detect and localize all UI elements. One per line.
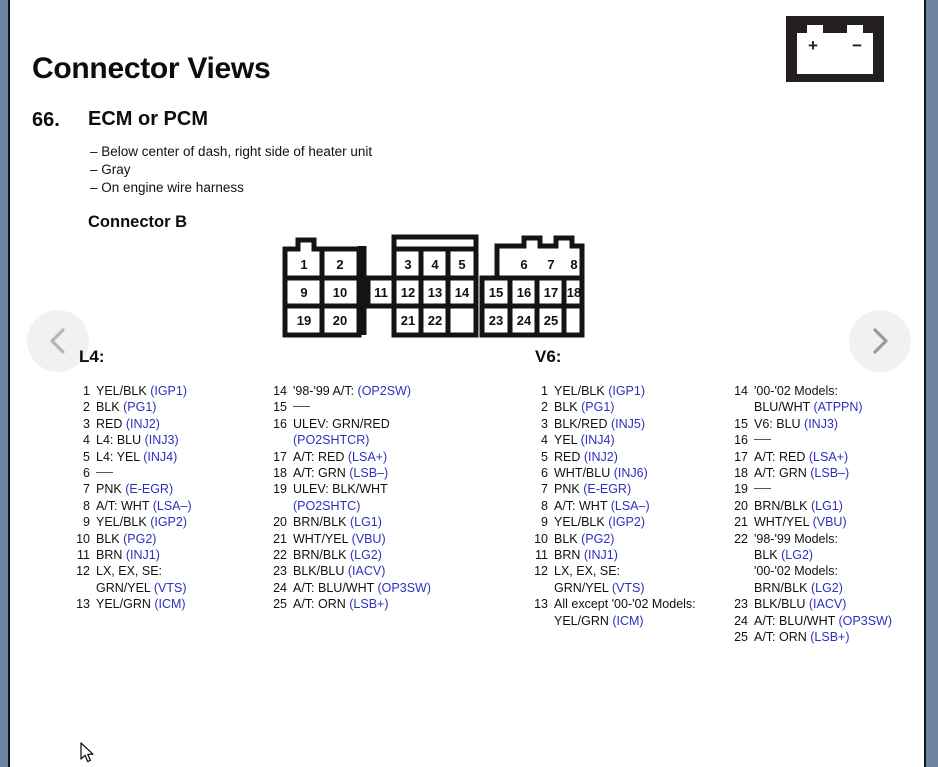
pin-description: A/T: GRN (LSB–) bbox=[293, 465, 465, 481]
pin-description-line: BRN/BLK (LG2) bbox=[754, 580, 926, 596]
pin-description: ULEV: BLK/WHT(PO2SHTC) bbox=[293, 481, 465, 514]
wire-color: BRN bbox=[554, 548, 584, 562]
pin-row: 6 bbox=[68, 465, 258, 481]
pin-description: BRN (INJ1) bbox=[554, 547, 726, 563]
pin-description-line: BLK/RED (INJ5) bbox=[554, 416, 726, 432]
pin-row: 17A/T: RED (LSA+) bbox=[726, 449, 926, 465]
pin-row: 5L4: YEL (INJ4) bbox=[68, 449, 258, 465]
wire-color: A/T: BLU/WHT bbox=[293, 581, 378, 595]
empty-pin-dash bbox=[754, 488, 771, 489]
pin-number: 18 bbox=[265, 465, 293, 481]
pin-number: 4 bbox=[68, 432, 96, 448]
pin-description: '98-'99 A/T: (OP2SW) bbox=[293, 383, 465, 399]
pin-description-line: BLK (LG2) bbox=[754, 547, 926, 563]
pin-number: 23 bbox=[726, 596, 754, 612]
signal-name: (INJ1) bbox=[584, 548, 618, 562]
signal-name: (LG1) bbox=[350, 515, 382, 529]
pin-row: 23BLK/BLU (IACV) bbox=[726, 596, 926, 612]
pin-description-line: '98-'99 A/T: (OP2SW) bbox=[293, 383, 465, 399]
pin-number: 14 bbox=[726, 383, 754, 399]
pin-number: 23 bbox=[265, 563, 293, 579]
pin-description-line: BRN/BLK (LG1) bbox=[293, 514, 465, 530]
wire-color: ULEV: GRN/RED bbox=[293, 417, 390, 431]
pin-description-line: BLK (PG2) bbox=[554, 531, 726, 547]
signal-name: (OP3SW) bbox=[839, 614, 892, 628]
pin-description: L4: BLU (INJ3) bbox=[96, 432, 258, 448]
signal-name: (PO2SHTC) bbox=[293, 499, 360, 513]
pin-row: 25A/T: ORN (LSB+) bbox=[265, 596, 465, 612]
pin-description-line: BRN (INJ1) bbox=[554, 547, 726, 563]
pin-number: 5 bbox=[526, 449, 554, 465]
pin-description-line: '00-'02 Models: bbox=[754, 383, 926, 399]
pin-description-line: BRN/BLK (LG2) bbox=[293, 547, 465, 563]
pin-description-line: GRN/YEL (VTS) bbox=[96, 580, 258, 596]
pin-number: 1 bbox=[526, 383, 554, 399]
signal-name: (LSA–) bbox=[611, 499, 650, 513]
pin-description-line: RED (INJ2) bbox=[96, 416, 258, 432]
pin-description-line bbox=[754, 481, 926, 497]
pin-row: 10BLK (PG2) bbox=[526, 531, 726, 547]
pin-description-line: L4: BLU (INJ3) bbox=[96, 432, 258, 448]
pin-cell-23: 23 bbox=[489, 313, 503, 328]
pin-description: A/T: WHT (LSA–) bbox=[96, 498, 258, 514]
signal-name: (IACV) bbox=[809, 597, 847, 611]
pin-description-line: BRN (INJ1) bbox=[96, 547, 258, 563]
pin-row: 14'00-'02 Models:BLU/WHT (ATPPN) bbox=[726, 383, 926, 416]
signal-name: (INJ2) bbox=[584, 450, 618, 464]
pin-cell-7: 7 bbox=[547, 257, 554, 272]
pin-description: A/T: WHT (LSA–) bbox=[554, 498, 726, 514]
pin-number: 5 bbox=[68, 449, 96, 465]
signal-name: (LSA–) bbox=[153, 499, 192, 513]
pin-description-line: (PO2SHTCR) bbox=[293, 432, 465, 448]
pin-cell-3: 3 bbox=[404, 257, 411, 272]
pin-cell-24: 24 bbox=[517, 313, 532, 328]
signal-name: (OP3SW) bbox=[378, 581, 431, 595]
wire-color: BRN/BLK bbox=[754, 581, 811, 595]
empty-pin-dash bbox=[96, 472, 113, 473]
next-page-button[interactable] bbox=[849, 310, 911, 372]
signal-name: (INJ4) bbox=[143, 450, 177, 464]
signal-name: (PG2) bbox=[123, 532, 156, 546]
chevron-right-icon bbox=[875, 330, 886, 352]
wire-color: BRN bbox=[96, 548, 126, 562]
pin-description-line: YEL/GRN (ICM) bbox=[96, 596, 258, 612]
pin-cell-19: 19 bbox=[297, 313, 311, 328]
pin-row: 9YEL/BLK (IGP2) bbox=[526, 514, 726, 530]
pin-row: 7PNK (E-EGR) bbox=[526, 481, 726, 497]
pin-row: 12LX, EX, SE:GRN/YEL (VTS) bbox=[526, 563, 726, 596]
signal-name: (VBU) bbox=[813, 515, 847, 529]
pin-description: YEL/BLK (IGP2) bbox=[96, 514, 258, 530]
pin-cell-10: 10 bbox=[333, 285, 347, 300]
wire-color: GRN/YEL bbox=[554, 581, 612, 595]
pin-cell-13: 13 bbox=[428, 285, 442, 300]
pin-number: 22 bbox=[265, 547, 293, 563]
pin-number: 8 bbox=[526, 498, 554, 514]
pin-number: 11 bbox=[526, 547, 554, 563]
pin-description: BLK (PG1) bbox=[96, 399, 258, 415]
pin-description: V6: BLU (INJ3) bbox=[754, 416, 926, 432]
signal-name: (INJ5) bbox=[611, 417, 645, 431]
pin-description: YEL/BLK (IGP1) bbox=[96, 383, 258, 399]
pin-cell-2: 2 bbox=[336, 257, 343, 272]
pin-row: 20BRN/BLK (LG1) bbox=[726, 498, 926, 514]
pin-description: A/T: BLU/WHT (OP3SW) bbox=[754, 613, 926, 629]
battery-plus-sign: + bbox=[808, 40, 818, 52]
pin-description-line: YEL/BLK (IGP2) bbox=[96, 514, 258, 530]
pin-number: 17 bbox=[726, 449, 754, 465]
signal-name: (LG2) bbox=[350, 548, 382, 562]
pin-cell-15: 15 bbox=[489, 285, 503, 300]
mouse-cursor bbox=[80, 742, 96, 764]
pin-row: 17A/T: RED (LSA+) bbox=[265, 449, 465, 465]
pin-number: 13 bbox=[526, 596, 554, 612]
wire-color: YEL/BLK bbox=[96, 384, 150, 398]
wire-color: A/T: RED bbox=[754, 450, 809, 464]
pin-number: 21 bbox=[726, 514, 754, 530]
wire-color: BLK/RED bbox=[554, 417, 611, 431]
pin-description: WHT/YEL (VBU) bbox=[754, 514, 926, 530]
pin-cell-9: 9 bbox=[300, 285, 307, 300]
pin-description-line: ULEV: BLK/WHT bbox=[293, 481, 465, 497]
wire-color: '98-'99 A/T: bbox=[293, 384, 358, 398]
pin-number: 24 bbox=[265, 580, 293, 596]
wire-color: BLK bbox=[554, 400, 581, 414]
pin-number: 7 bbox=[68, 481, 96, 497]
pin-number: 20 bbox=[265, 514, 293, 530]
pin-cell-22: 22 bbox=[428, 313, 442, 328]
pin-row: 20BRN/BLK (LG1) bbox=[265, 514, 465, 530]
empty-pin-dash bbox=[293, 406, 310, 407]
pin-description-line: A/T: BLU/WHT (OP3SW) bbox=[754, 613, 926, 629]
pin-description-line: V6: BLU (INJ3) bbox=[754, 416, 926, 432]
signal-name: (E-EGR) bbox=[125, 482, 173, 496]
pin-row: 8A/T: WHT (LSA–) bbox=[68, 498, 258, 514]
pin-description-line: YEL/BLK (IGP2) bbox=[554, 514, 726, 530]
pin-description-line: LX, EX, SE: bbox=[554, 563, 726, 579]
pin-description-line: A/T: BLU/WHT (OP3SW) bbox=[293, 580, 465, 596]
pin-description-line: BLK/BLU (IACV) bbox=[293, 563, 465, 579]
pin-row: 22'98-'99 Models:BLK (LG2)'00-'02 Models… bbox=[726, 531, 926, 597]
pin-description-line: A/T: ORN (LSB+) bbox=[293, 596, 465, 612]
signal-name: (INJ1) bbox=[126, 548, 160, 562]
wire-color: RED bbox=[554, 450, 584, 464]
signal-name: (INJ3) bbox=[804, 417, 838, 431]
pin-row: 25A/T: ORN (LSB+) bbox=[726, 629, 926, 645]
pin-description bbox=[754, 432, 926, 448]
pin-description: BLK/BLU (IACV) bbox=[293, 563, 465, 579]
pin-number: 25 bbox=[726, 629, 754, 645]
pin-list-l4-col1: 1YEL/BLK (IGP1)2BLK (PG1)3RED (INJ2)4L4:… bbox=[68, 383, 258, 613]
pin-number: 6 bbox=[68, 465, 96, 481]
pin-number: 17 bbox=[265, 449, 293, 465]
pin-description-line: '98-'99 Models: bbox=[754, 531, 926, 547]
pin-row: 2BLK (PG1) bbox=[526, 399, 726, 415]
pin-description: BLK (PG2) bbox=[554, 531, 726, 547]
pin-row: 15V6: BLU (INJ3) bbox=[726, 416, 926, 432]
pin-row: 24A/T: BLU/WHT (OP3SW) bbox=[265, 580, 465, 596]
pin-description-line: LX, EX, SE: bbox=[96, 563, 258, 579]
wire-color: BRN/BLK bbox=[293, 515, 350, 529]
pin-number: 2 bbox=[68, 399, 96, 415]
signal-name: (VTS) bbox=[612, 581, 645, 595]
pin-row: 23BLK/BLU (IACV) bbox=[265, 563, 465, 579]
signal-name: (LSA+) bbox=[809, 450, 848, 464]
pin-description-line: GRN/YEL (VTS) bbox=[554, 580, 726, 596]
pin-cell-16: 16 bbox=[517, 285, 531, 300]
pin-description: YEL/BLK (IGP1) bbox=[554, 383, 726, 399]
pin-cell-21: 21 bbox=[401, 313, 415, 328]
signal-name: (LG2) bbox=[811, 581, 843, 595]
pin-row: 2BLK (PG1) bbox=[68, 399, 258, 415]
wire-color: A/T: RED bbox=[293, 450, 348, 464]
wire-color: BRN/BLK bbox=[754, 499, 811, 513]
pin-cell-20: 20 bbox=[333, 313, 347, 328]
pin-row: 12LX, EX, SE:GRN/YEL (VTS) bbox=[68, 563, 258, 596]
pin-row: 3BLK/RED (INJ5) bbox=[526, 416, 726, 432]
pin-description-line: WHT/YEL (VBU) bbox=[293, 531, 465, 547]
pin-description-line bbox=[96, 465, 258, 481]
pin-cell-25: 25 bbox=[544, 313, 558, 328]
empty-pin-dash bbox=[754, 439, 771, 440]
pin-description: All except '00-'02 Models:YEL/GRN (ICM) bbox=[554, 596, 726, 629]
pin-description-line: YEL (INJ4) bbox=[554, 432, 726, 448]
pin-description-line: BRN/BLK (LG1) bbox=[754, 498, 926, 514]
wire-color: RED bbox=[96, 417, 126, 431]
page-title: Connector Views bbox=[32, 52, 270, 86]
pin-number: 25 bbox=[265, 596, 293, 612]
wire-color: A/T: ORN bbox=[293, 597, 349, 611]
wire-color: LX, EX, SE: bbox=[554, 564, 620, 578]
pin-description-line: A/T: GRN (LSB–) bbox=[754, 465, 926, 481]
pin-description: BLK (PG1) bbox=[554, 399, 726, 415]
item-number: 66. bbox=[32, 109, 60, 132]
variant-title-v6: V6: bbox=[535, 347, 561, 367]
pin-description-line bbox=[754, 432, 926, 448]
pin-row: 21WHT/YEL (VBU) bbox=[265, 531, 465, 547]
pin-row: 14'98-'99 A/T: (OP2SW) bbox=[265, 383, 465, 399]
pin-number: 9 bbox=[526, 514, 554, 530]
pin-description: YEL/GRN (ICM) bbox=[96, 596, 258, 612]
pin-description: BLK/RED (INJ5) bbox=[554, 416, 726, 432]
pin-description-line: A/T: GRN (LSB–) bbox=[293, 465, 465, 481]
signal-name: (E-EGR) bbox=[583, 482, 631, 496]
pin-number: 2 bbox=[526, 399, 554, 415]
pin-description: A/T: BLU/WHT (OP3SW) bbox=[293, 580, 465, 596]
pin-cell-6: 6 bbox=[520, 257, 527, 272]
pin-description: BLK/BLU (IACV) bbox=[754, 596, 926, 612]
wire-color: ULEV: BLK/WHT bbox=[293, 482, 388, 496]
pin-description-line: A/T: ORN (LSB+) bbox=[754, 629, 926, 645]
signal-name: (LSB–) bbox=[349, 466, 388, 480]
pin-description bbox=[293, 399, 465, 415]
pin-description-line: BLK (PG2) bbox=[96, 531, 258, 547]
connector-label: Connector B bbox=[88, 213, 187, 232]
wire-color: BLK bbox=[554, 532, 581, 546]
pin-description-line: ULEV: GRN/RED bbox=[293, 416, 465, 432]
pin-row: 1YEL/BLK (IGP1) bbox=[68, 383, 258, 399]
pin-list-v6-col1: 1YEL/BLK (IGP1)2BLK (PG1)3BLK/RED (INJ5)… bbox=[526, 383, 726, 629]
pin-row: 24A/T: BLU/WHT (OP3SW) bbox=[726, 613, 926, 629]
pin-description-line: WHT/BLU (INJ6) bbox=[554, 465, 726, 481]
pin-description: LX, EX, SE:GRN/YEL (VTS) bbox=[96, 563, 258, 596]
pin-description: BRN/BLK (LG2) bbox=[293, 547, 465, 563]
wire-color: A/T: GRN bbox=[293, 466, 349, 480]
signal-name: (PG1) bbox=[581, 400, 614, 414]
document-page: + − Connector Views 66. ECM or PCM – Bel… bbox=[8, 0, 926, 767]
pin-number: 10 bbox=[68, 531, 96, 547]
pin-number: 4 bbox=[526, 432, 554, 448]
pin-number: 14 bbox=[265, 383, 293, 399]
signal-name: (LSB+) bbox=[810, 630, 849, 644]
pin-description-line: BLU/WHT (ATPPN) bbox=[754, 399, 926, 415]
wire-color: YEL/BLK bbox=[554, 515, 608, 529]
signal-name: (INJ3) bbox=[145, 433, 179, 447]
pin-description-line: WHT/YEL (VBU) bbox=[754, 514, 926, 530]
wire-color: '98-'99 Models: bbox=[754, 532, 838, 546]
signal-name: (PG2) bbox=[581, 532, 614, 546]
pin-list-l4-col2: 14'98-'99 A/T: (OP2SW)1516ULEV: GRN/RED(… bbox=[265, 383, 465, 613]
pin-number: 6 bbox=[526, 465, 554, 481]
wire-color: GRN/YEL bbox=[96, 581, 154, 595]
pin-description: WHT/YEL (VBU) bbox=[293, 531, 465, 547]
wire-color: V6: BLU bbox=[754, 417, 804, 431]
signal-name: (LSB–) bbox=[810, 466, 849, 480]
pin-description: YEL/BLK (IGP2) bbox=[554, 514, 726, 530]
wire-color: WHT/YEL bbox=[754, 515, 813, 529]
pin-row: 6WHT/BLU (INJ6) bbox=[526, 465, 726, 481]
pin-description: L4: YEL (INJ4) bbox=[96, 449, 258, 465]
pin-row: 4YEL (INJ4) bbox=[526, 432, 726, 448]
pin-number: 18 bbox=[726, 465, 754, 481]
pin-row: 13All except '00-'02 Models:YEL/GRN (ICM… bbox=[526, 596, 726, 629]
wire-color: YEL/GRN bbox=[554, 614, 612, 628]
battery-minus-sign: − bbox=[852, 40, 862, 52]
wire-color: L4: BLU bbox=[96, 433, 145, 447]
chevron-left-icon bbox=[52, 330, 63, 352]
pin-description-line: A/T: RED (LSA+) bbox=[754, 449, 926, 465]
pin-description-line: YEL/BLK (IGP1) bbox=[554, 383, 726, 399]
wire-color: BLK/BLU bbox=[754, 597, 809, 611]
pin-description: A/T: ORN (LSB+) bbox=[293, 596, 465, 612]
wire-color: L4: YEL bbox=[96, 450, 143, 464]
signal-name: (IGP2) bbox=[608, 515, 645, 529]
pin-description: BLK (PG2) bbox=[96, 531, 258, 547]
variant-title-l4: L4: bbox=[79, 347, 105, 367]
pin-number: 24 bbox=[726, 613, 754, 629]
pin-description-line: (PO2SHTC) bbox=[293, 498, 465, 514]
pin-description-line: BLK (PG1) bbox=[554, 399, 726, 415]
pin-description-line: L4: YEL (INJ4) bbox=[96, 449, 258, 465]
item-title: ECM or PCM bbox=[88, 108, 208, 131]
pin-number: 19 bbox=[265, 481, 293, 497]
wire-color: WHT/YEL bbox=[293, 532, 352, 546]
pin-description: A/T: GRN (LSB–) bbox=[754, 465, 926, 481]
pin-description-line: All except '00-'02 Models: bbox=[554, 596, 726, 612]
pin-row: 1YEL/BLK (IGP1) bbox=[526, 383, 726, 399]
pin-description-line: A/T: RED (LSA+) bbox=[293, 449, 465, 465]
bullet-harness: – On engine wire harness bbox=[90, 179, 372, 197]
pin-number: 10 bbox=[526, 531, 554, 547]
pin-number: 8 bbox=[68, 498, 96, 514]
pin-row: 13YEL/GRN (ICM) bbox=[68, 596, 258, 612]
wire-color: '00-'02 Models: bbox=[754, 564, 838, 578]
bullet-location: – Below center of dash, right side of he… bbox=[90, 143, 372, 161]
signal-name: (LG2) bbox=[781, 548, 813, 562]
wire-color: A/T: GRN bbox=[754, 466, 810, 480]
pin-number: 12 bbox=[68, 563, 96, 579]
pin-number: 7 bbox=[526, 481, 554, 497]
signal-name: (OP2SW) bbox=[358, 384, 411, 398]
pin-number: 15 bbox=[726, 416, 754, 432]
signal-name: (ICM) bbox=[154, 597, 185, 611]
wire-color: BRN/BLK bbox=[293, 548, 350, 562]
pin-cell-11: 11 bbox=[374, 285, 388, 300]
signal-name: (LSA+) bbox=[348, 450, 387, 464]
pin-description: BRN/BLK (LG1) bbox=[754, 498, 926, 514]
wire-color: '00-'02 Models: bbox=[754, 384, 838, 398]
signal-name: (IACV) bbox=[348, 564, 386, 578]
pin-row: 11BRN (INJ1) bbox=[68, 547, 258, 563]
pin-description bbox=[96, 465, 258, 481]
wire-color: YEL bbox=[554, 433, 581, 447]
pin-description-line: PNK (E-EGR) bbox=[96, 481, 258, 497]
pin-row: 21WHT/YEL (VBU) bbox=[726, 514, 926, 530]
pin-description-line: BLK/BLU (IACV) bbox=[754, 596, 926, 612]
pin-number: 21 bbox=[265, 531, 293, 547]
wire-color: A/T: WHT bbox=[96, 499, 153, 513]
pin-row: 9YEL/BLK (IGP2) bbox=[68, 514, 258, 530]
pin-row: 8A/T: WHT (LSA–) bbox=[526, 498, 726, 514]
wire-color: YEL/BLK bbox=[96, 515, 150, 529]
signal-name: (PO2SHTCR) bbox=[293, 433, 369, 447]
pin-description: '00-'02 Models:BLU/WHT (ATPPN) bbox=[754, 383, 926, 416]
pin-cell-4: 4 bbox=[431, 257, 439, 272]
pin-description: PNK (E-EGR) bbox=[554, 481, 726, 497]
signal-name: (INJ6) bbox=[614, 466, 648, 480]
wire-color: YEL/GRN bbox=[96, 597, 154, 611]
item-bullets: – Below center of dash, right side of he… bbox=[90, 143, 372, 197]
connector-pinout-diagram: 1 2 3 4 5 6 7 8 9 10 11 12 13 14 15 16 1… bbox=[282, 228, 602, 338]
pin-number: 16 bbox=[726, 432, 754, 448]
pin-number: 16 bbox=[265, 416, 293, 432]
pin-cell-17: 17 bbox=[544, 285, 558, 300]
pin-description: A/T: RED (LSA+) bbox=[293, 449, 465, 465]
signal-name: (IGP1) bbox=[608, 384, 645, 398]
pin-row: 15 bbox=[265, 399, 465, 415]
pin-number: 12 bbox=[526, 563, 554, 579]
wire-color: BLU/WHT bbox=[754, 400, 814, 414]
wire-color: WHT/BLU bbox=[554, 466, 614, 480]
signal-name: (LSB+) bbox=[349, 597, 388, 611]
pin-description: WHT/BLU (INJ6) bbox=[554, 465, 726, 481]
pin-row: 22BRN/BLK (LG2) bbox=[265, 547, 465, 563]
pin-row: 18A/T: GRN (LSB–) bbox=[265, 465, 465, 481]
pin-cell-8: 8 bbox=[570, 257, 577, 272]
pin-description: RED (INJ2) bbox=[554, 449, 726, 465]
pin-number: 13 bbox=[68, 596, 96, 612]
pin-description: LX, EX, SE:GRN/YEL (VTS) bbox=[554, 563, 726, 596]
pin-cell-18: 18 bbox=[567, 285, 581, 300]
signal-name: (IGP2) bbox=[150, 515, 187, 529]
pin-description-line: BLK (PG1) bbox=[96, 399, 258, 415]
pin-description-line: YEL/GRN (ICM) bbox=[554, 613, 726, 629]
pin-description: YEL (INJ4) bbox=[554, 432, 726, 448]
signal-name: (ATPPN) bbox=[814, 400, 863, 414]
signal-name: (INJ2) bbox=[126, 417, 160, 431]
signal-name: (ICM) bbox=[612, 614, 643, 628]
